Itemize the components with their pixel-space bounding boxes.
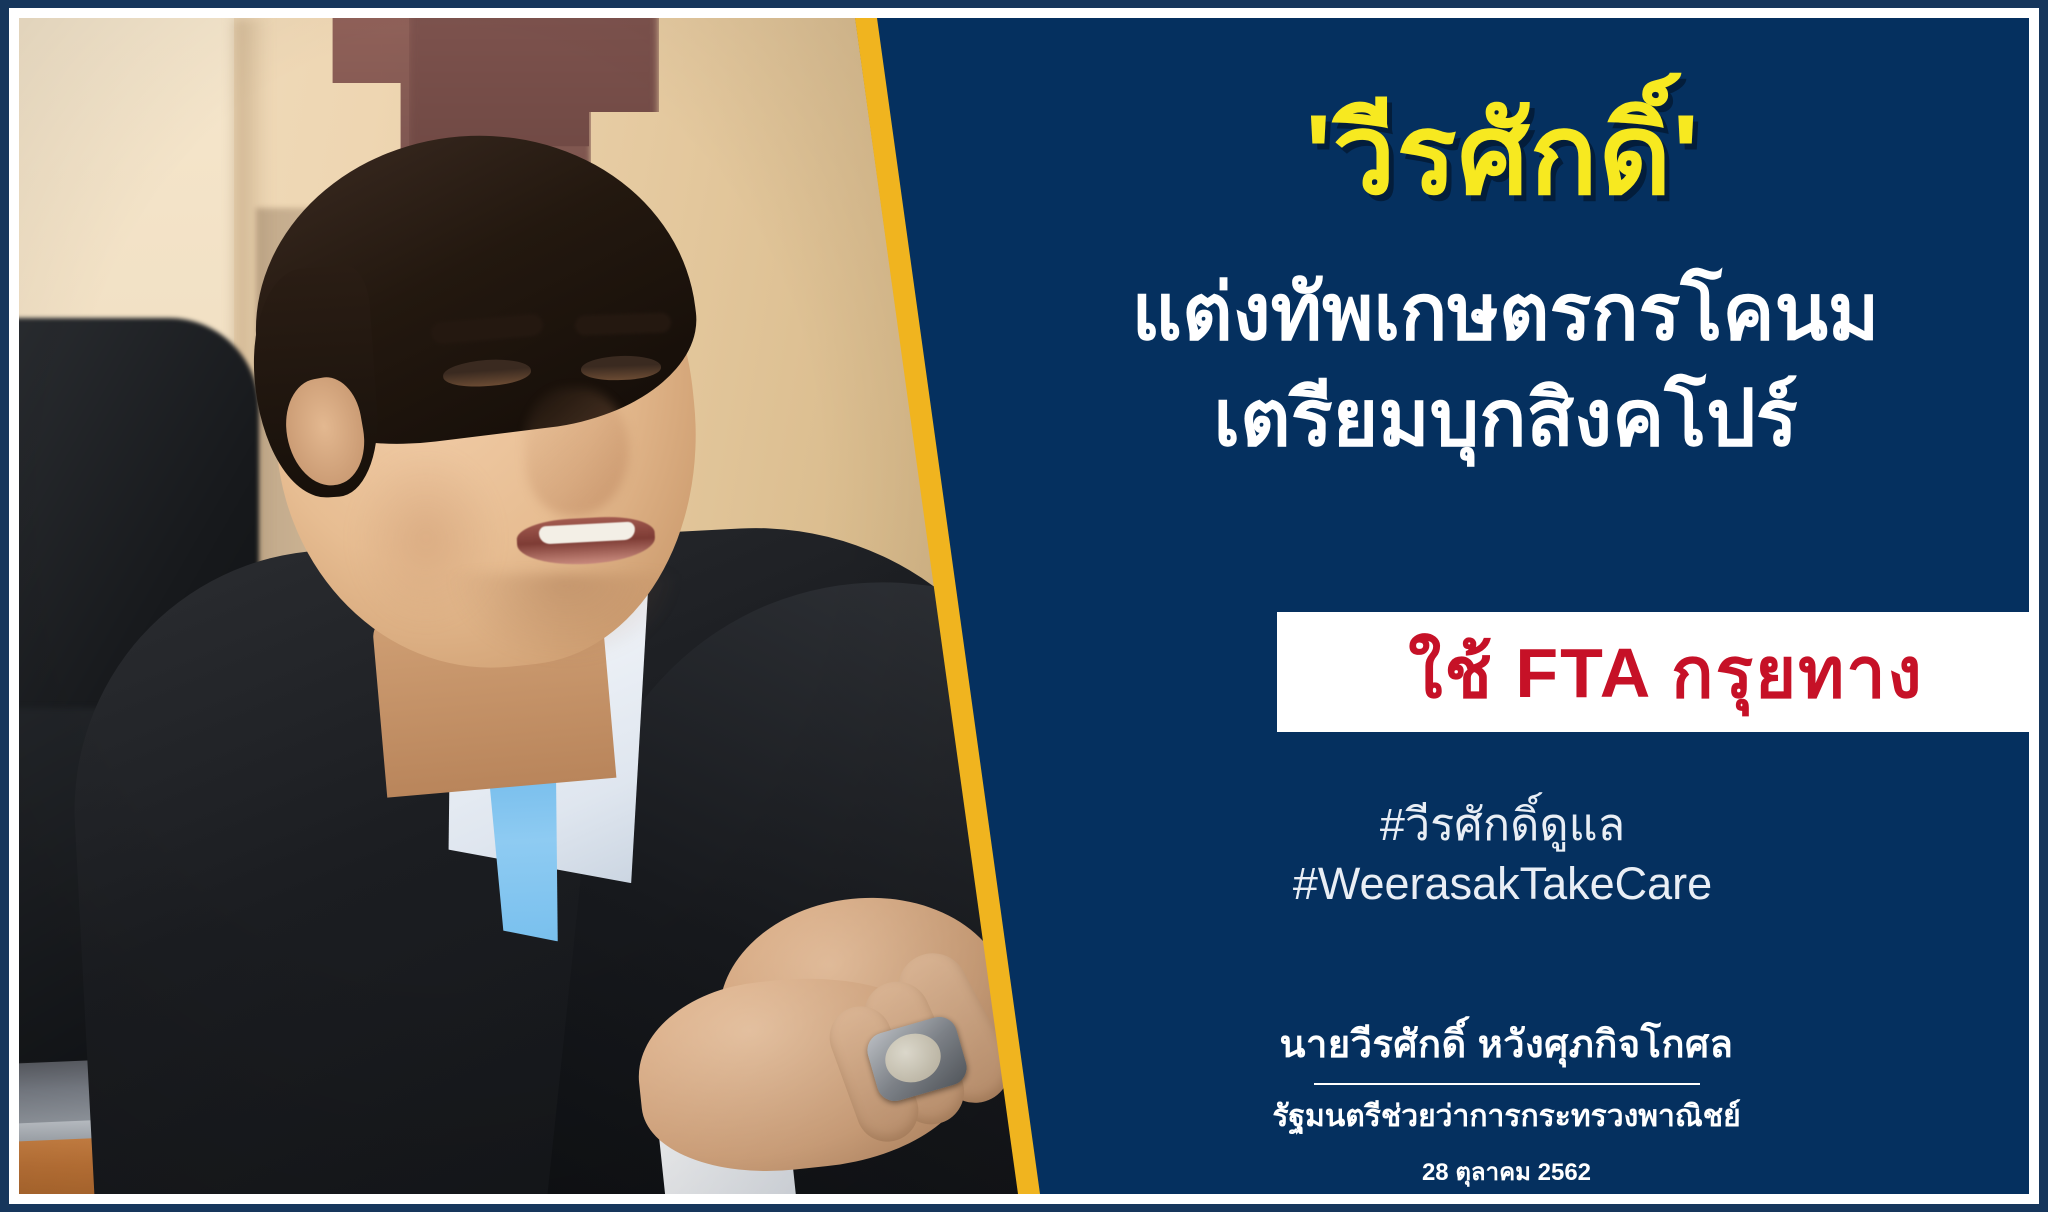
attribution-divider <box>1314 1083 1700 1085</box>
hashtag-english[interactable]: #WeerasakTakeCare <box>1034 855 1971 914</box>
attribution-date: 28 ตุลาคม 2562 <box>1034 1152 1979 1191</box>
headline-yellow-name: 'วีรศักดิ์' <box>1034 96 1971 214</box>
poster-canvas: 'วีรศักดิ์' แต่งทัพเกษตรกรโคนม เตรียมบุก… <box>19 18 2029 1194</box>
hashtag-block: #วีรศักดิ์ดูแล #WeerasakTakeCare <box>1034 796 1971 913</box>
photo-vignette <box>19 18 1034 1194</box>
attribution-name: นายวีรศักดิ์ หวังศุภกิจโกศล <box>1034 1013 1979 1074</box>
headline-line-1: แต่งทัพเกษตรกรโคนม <box>1034 266 1977 358</box>
highlight-text: ใช้ FTA กรุยทาง <box>1408 617 1924 728</box>
headline-white-block: แต่งทัพเกษตรกรโคนม เตรียมบุกสิงคโปร์ <box>1034 266 1977 464</box>
attribution-role: รัฐมนตรีช่วยว่าการกระทรวงพาณิชย์ <box>1034 1093 1979 1140</box>
hashtag-thai[interactable]: #วีรศักดิ์ดูแล <box>1034 796 1971 855</box>
subject-photo <box>19 18 1034 1194</box>
text-panel: 'วีรศักดิ์' แต่งทัพเกษตรกรโคนม เตรียมบุก… <box>1034 18 2029 1194</box>
attribution-block: นายวีรศักดิ์ หวังศุภกิจโกศล รัฐมนตรีช่วย… <box>1034 1013 1979 1191</box>
headline-line-2: เตรียมบุกสิงคโปร์ <box>1034 372 1977 464</box>
highlight-box: ใช้ FTA กรุยทาง <box>1277 612 2029 732</box>
news-graphic-poster: 'วีรศักดิ์' แต่งทัพเกษตรกรโคนม เตรียมบุก… <box>0 0 2048 1212</box>
